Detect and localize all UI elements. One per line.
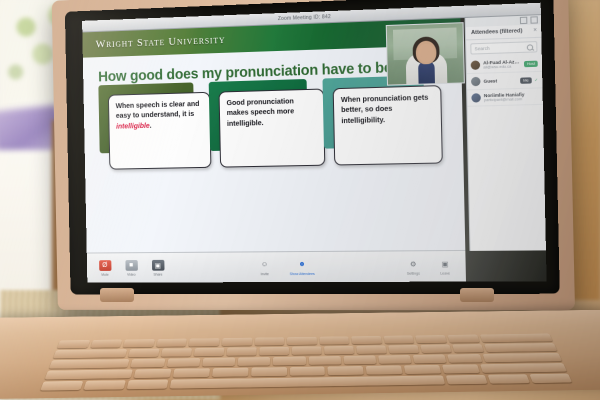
key: [366, 365, 403, 374]
attendee-email: ali@wsu.edu.ca: [483, 64, 521, 69]
key: [251, 367, 287, 376]
key: [45, 369, 134, 379]
key: [484, 343, 557, 352]
search-icon: [527, 44, 533, 50]
box-text: When speech is clear and easy to underst…: [116, 99, 204, 132]
key: [383, 335, 414, 343]
key: [388, 345, 419, 353]
status-badge: Host: [524, 60, 538, 67]
key: [128, 349, 160, 358]
toolbar-left-group: Ø Mute ■ Video ▣ Share: [87, 260, 169, 276]
minimize-icon[interactable]: [520, 17, 528, 24]
show-attendees-label: Show Attendees: [290, 272, 315, 276]
attendee-info: Noriimlie Haniafiy participant@mail.com: [484, 92, 539, 103]
key: [238, 357, 271, 366]
panel-close-icon[interactable]: ×: [533, 28, 537, 34]
meeting-toolbar: Ø Mute ■ Video ▣ Share: [87, 250, 466, 283]
gear-icon: ⚙: [406, 259, 420, 270]
presenter-shirt: [418, 61, 435, 84]
box-emphasis: intelligible: [116, 121, 150, 131]
invite-label: Invite: [261, 272, 269, 276]
key: [90, 340, 122, 348]
leave-label: Leave: [440, 271, 450, 275]
keyboard[interactable]: [40, 334, 573, 392]
video-label: Video: [127, 272, 135, 276]
laptop: Zoom Meeting ID: 842 Wright State Univer…: [0, 0, 600, 400]
box-card: Good pronunciation makes speech more int…: [219, 89, 326, 168]
box-text: When pronunciation gets better, so does …: [341, 92, 435, 126]
key: [292, 346, 322, 354]
key: [413, 355, 447, 364]
attendee-info: Guest: [483, 78, 517, 84]
settings-button[interactable]: ⚙ Settings: [402, 259, 425, 276]
leave-button[interactable]: ▣ Leave: [434, 258, 457, 275]
mute-label: Mute: [101, 273, 108, 277]
key: [356, 345, 387, 353]
key: [290, 367, 326, 376]
microphone-muted-icon: Ø: [99, 260, 111, 271]
search-placeholder: Search: [474, 46, 489, 52]
invite-button[interactable]: ☺ Invite: [254, 259, 276, 276]
key: [328, 366, 364, 375]
concept-box-3: When pronunciation gets better, so does …: [329, 82, 435, 167]
key: [273, 357, 305, 366]
university-wordmark: Wright State University: [96, 34, 226, 50]
check-icon: ✓: [534, 77, 538, 82]
attendees-panel: Attendees (filtered) × Search Al-Fuad Al…: [465, 15, 546, 251]
photo-scene: Zoom Meeting ID: 842 Wright State Univer…: [0, 0, 600, 400]
key: [254, 337, 284, 345]
key: [343, 356, 376, 365]
key: [222, 338, 252, 346]
key: [166, 358, 200, 367]
attendee-name: Guest: [483, 78, 517, 84]
key: [161, 348, 192, 357]
share-label: Share: [153, 272, 162, 276]
avatar: [471, 60, 481, 69]
box-text-after: .: [150, 121, 152, 130]
mute-button[interactable]: Ø Mute: [94, 260, 115, 276]
panel-header: Attendees (filtered) ×: [466, 24, 542, 40]
key: [189, 338, 220, 346]
screen-share-icon: ▣: [151, 260, 164, 271]
attendee-search-input[interactable]: Search: [470, 41, 537, 55]
box-text-before: When speech is clear and easy to underst…: [116, 99, 200, 120]
key: [227, 347, 257, 356]
key: [480, 363, 567, 373]
share-button[interactable]: ▣ Share: [147, 260, 168, 276]
avatar: [471, 77, 481, 86]
key: [448, 335, 480, 343]
key: [351, 336, 382, 344]
meeting-window: Wright State University How good does my…: [82, 15, 546, 283]
hinge-left: [100, 288, 134, 302]
hinge-right: [460, 288, 494, 302]
video-button[interactable]: ■ Video: [121, 260, 142, 276]
key: [134, 369, 172, 378]
concept-boxes: When speech is clear and easy to underst…: [104, 82, 435, 171]
key: [442, 364, 480, 373]
key: [259, 347, 289, 355]
settings-label: Settings: [407, 271, 420, 275]
attendee-row[interactable]: Noriimlie Haniafiy participant@mail.com: [467, 88, 543, 106]
key: [420, 345, 451, 353]
laptop-screen: Zoom Meeting ID: 842 Wright State Univer…: [82, 3, 547, 283]
key: [156, 339, 187, 347]
key: [131, 359, 165, 368]
key: [308, 356, 341, 365]
leave-meeting-icon: ▣: [438, 258, 452, 269]
key: [49, 359, 130, 369]
key: [530, 374, 573, 383]
titlebar-text: Zoom Meeting ID: 842: [278, 14, 331, 22]
key: [416, 335, 447, 343]
key: [123, 339, 155, 347]
invite-person-icon: ☺: [258, 259, 271, 270]
close-icon[interactable]: [530, 16, 538, 23]
key: [378, 355, 412, 364]
presenter-face: [418, 44, 435, 63]
key: [173, 368, 210, 377]
panel-title: Attendees (filtered): [471, 28, 522, 36]
key: [479, 334, 552, 343]
key: [452, 344, 484, 352]
status-badge: Me: [520, 77, 531, 83]
concept-box-2: Good pronunciation makes speech more int…: [215, 86, 318, 170]
key: [482, 353, 562, 362]
key: [202, 358, 235, 367]
key: [194, 348, 225, 357]
camera-icon: ■: [125, 260, 138, 271]
key: [319, 336, 349, 344]
key: [212, 368, 248, 377]
key: [404, 365, 441, 374]
key: [448, 354, 482, 363]
attendee-email: participant@mail.com: [484, 97, 539, 103]
avatar: [471, 93, 481, 102]
attendees-person-icon: ☻: [295, 259, 308, 270]
box-card: When speech is clear and easy to underst…: [108, 92, 211, 170]
presenter-video-tile[interactable]: [386, 22, 465, 86]
attendee-info: Al-Fuad Al-Aza... ali@wsu.edu.ca: [483, 59, 521, 69]
key: [57, 340, 90, 348]
box-text: Good pronunciation makes speech more int…: [226, 96, 317, 129]
key: [287, 337, 317, 345]
show-attendees-button[interactable]: ☻ Show Attendees: [291, 259, 313, 276]
key: [40, 381, 83, 391]
box-card: When pronunciation gets better, so does …: [333, 85, 443, 165]
key: [446, 375, 488, 384]
toolbar-right-group: ⚙ Settings ▣ Leave: [402, 258, 466, 275]
key: [126, 380, 168, 390]
concept-box-1: When speech is clear and easy to underst…: [104, 89, 204, 172]
key: [83, 380, 125, 390]
key: [324, 346, 354, 354]
key: [488, 374, 530, 383]
toolbar-center-group: ☺ Invite ☻ Show Attendees: [168, 259, 402, 277]
key: [53, 349, 127, 358]
